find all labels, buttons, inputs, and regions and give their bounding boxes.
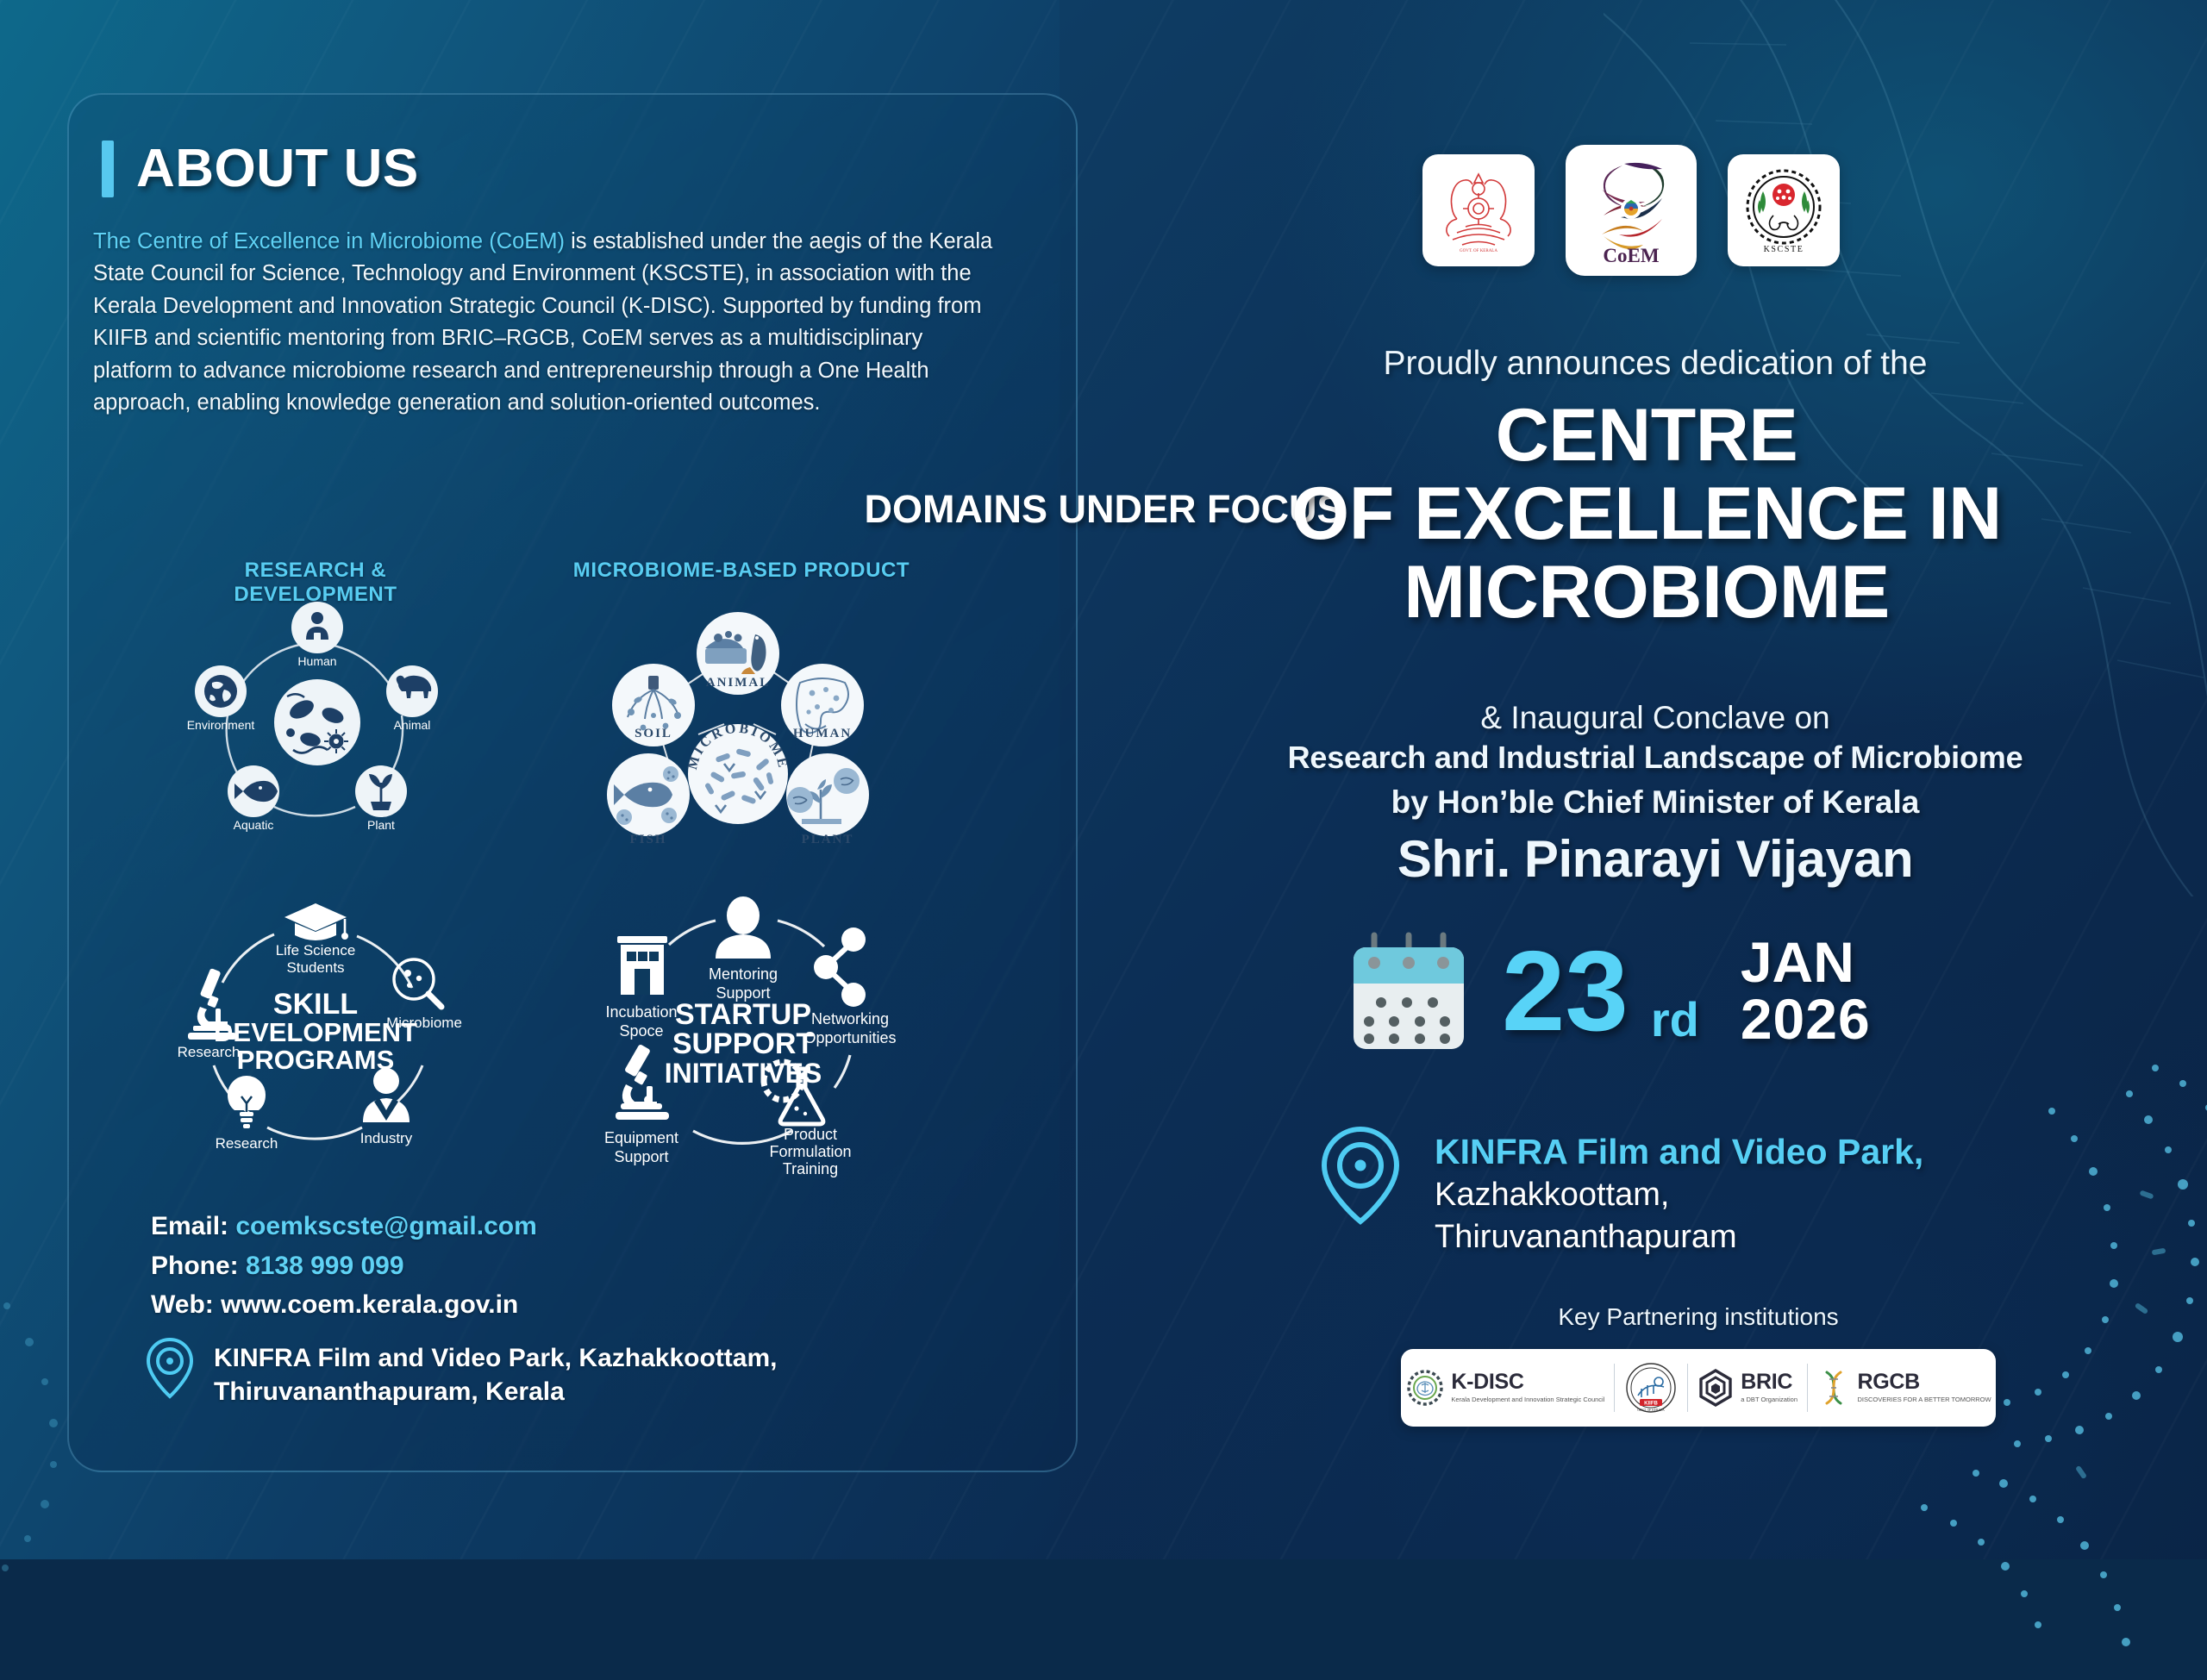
person-icon — [716, 896, 771, 959]
svg-text:GOVT. OF KERALA: GOVT. OF KERALA — [1460, 249, 1497, 253]
node-aquatic: Aquatic — [228, 765, 279, 832]
kdisc-gear-icon — [1405, 1367, 1445, 1408]
lightbulb-icon — [228, 1076, 266, 1128]
svg-text:Equipment: Equipment — [604, 1129, 678, 1146]
svg-text:Support: Support — [716, 984, 770, 1002]
main-title: CENTRE OF EXCELLENCE IN MICROBIOME — [1103, 397, 2190, 632]
partner-kdisc: K-DISC Kerala Development and Innovation… — [1405, 1367, 1604, 1408]
location-pin-icon — [1319, 1125, 1402, 1227]
partner-separator-3 — [1807, 1364, 1808, 1412]
svg-text:Research: Research — [216, 1135, 278, 1152]
left-address-block: KINFRA Film and Video Park, Kazhakkootta… — [145, 1336, 777, 1408]
venue-text: KINFRA Film and Video Park, Kazhakkootta… — [1435, 1125, 1923, 1258]
magnifier-microbe-icon — [394, 959, 441, 1007]
partner-kiifb: KIIFB GOVT. OF KERALA — [1624, 1361, 1678, 1415]
partner-bric-sub: a DBT Organization — [1741, 1396, 1797, 1403]
partner-kdisc-sub: Kerala Development and Innovation Strate… — [1451, 1396, 1604, 1403]
chief-minister-name: Shri. Pinarayi Vijayan — [1147, 827, 2164, 891]
svg-text:Life Science: Life Science — [276, 942, 356, 959]
svg-text:ANIMAL: ANIMAL — [706, 676, 771, 690]
skill-development-programs-diagram: SKILL DEVELOPMENT PROGRAMS Life Science … — [164, 896, 474, 1164]
svg-text:Environment: Environment — [187, 718, 255, 732]
node-soil: SOIL — [612, 664, 695, 746]
web-value[interactable]: www.coem.kerala.gov.in — [221, 1290, 518, 1319]
bric-hex-icon — [1697, 1368, 1735, 1408]
calendar-icon — [1345, 927, 1472, 1056]
event-month-year: JAN 2026 — [1741, 934, 1871, 1048]
microscope-icon — [616, 1044, 669, 1120]
svg-text:STARTUP: STARTUP — [675, 998, 811, 1031]
svg-text:GOVT. OF KERALA: GOVT. OF KERALA — [1637, 1408, 1665, 1412]
svg-text:Support: Support — [614, 1148, 668, 1165]
left-address-line1: KINFRA Film and Video Park, Kazhakkootta… — [214, 1341, 777, 1375]
kiifb-seal-icon: KIIFB GOVT. OF KERALA — [1624, 1361, 1678, 1415]
main-title-line1: CENTRE — [1103, 397, 2190, 475]
heading-accent-bar — [102, 141, 114, 197]
svg-text:Mentoring: Mentoring — [709, 965, 778, 983]
conclave-line1: & Inaugural Conclave on — [1147, 698, 2164, 738]
research-development-diagram: Human Animal Plant Aquatic — [164, 595, 474, 879]
svg-text:Plant: Plant — [367, 818, 395, 832]
left-address-text: KINFRA Film and Video Park, Kazhakkootta… — [214, 1336, 777, 1408]
svg-text:Animal: Animal — [394, 718, 431, 732]
startup-support-initiatives-diagram: STARTUP SUPPORT INITIATIVES Mentoring Su… — [595, 896, 905, 1172]
announce-line: Proudly announces dedication of the — [1147, 345, 2164, 383]
event-day: 23 — [1502, 934, 1629, 1048]
svg-text:PLANT: PLANT — [802, 833, 854, 846]
node-plant: Plant — [355, 765, 407, 832]
partner-kdisc-name: K-DISC — [1451, 1371, 1604, 1393]
partner-logos-header: GOVT. OF KERALA — [1422, 145, 1840, 276]
svg-text:SUPPORT: SUPPORT — [672, 1027, 815, 1060]
government-of-kerala-emblem: GOVT. OF KERALA — [1422, 154, 1535, 266]
conclave-line2: Research and Industrial Landscape of Mic… — [1147, 738, 2164, 778]
svg-text:Microbiome: Microbiome — [386, 1015, 462, 1031]
contact-block: Email: coemkscste@gmail.com Phone: 8138 … — [151, 1207, 537, 1325]
coem-logo: CoEM — [1566, 145, 1697, 276]
microbiome-based-product-diagram: SOIL ANIMAL HUMAN — [595, 603, 879, 862]
about-highlight-text: The Centre of Excellence in Microbiome (… — [93, 229, 565, 253]
location-pin-icon — [145, 1336, 195, 1400]
phone-value[interactable]: 8138 999 099 — [246, 1252, 404, 1280]
conclave-block: & Inaugural Conclave on Research and Ind… — [1147, 698, 2164, 891]
event-year: 2026 — [1741, 990, 1871, 1048]
building-icon — [617, 936, 667, 995]
svg-text:HUMAN: HUMAN — [793, 727, 852, 740]
partner-bric: BRIC a DBT Organization — [1697, 1368, 1797, 1408]
svg-text:Product: Product — [784, 1126, 837, 1143]
venue-block: KINFRA Film and Video Park, Kazhakkootta… — [1319, 1125, 1923, 1258]
partner-rgcb-name: RGCB — [1857, 1371, 1991, 1393]
node-microbiome-centre: MICROBIOME — [685, 721, 791, 824]
web-label: Web: — [151, 1290, 214, 1319]
left-address-line2: Thiruvananthapuram, Kerala — [214, 1375, 777, 1408]
event-date-block: 23 rd JAN 2026 — [1345, 927, 1871, 1056]
node-environment: Environment — [187, 665, 255, 732]
venue-line2: Kazhakkoottam, — [1435, 1174, 1923, 1216]
svg-text:Formulation: Formulation — [769, 1143, 851, 1160]
kscste-logo: KSCSTE — [1728, 154, 1840, 266]
partner-rgcb-sub: DISCOVERIES FOR A BETTER TOMORROW — [1857, 1396, 1991, 1403]
svg-text:Aquatic: Aquatic — [234, 818, 274, 832]
contact-web-row: Web: www.coem.kerala.gov.in — [151, 1285, 537, 1325]
svg-text:Incubation: Incubation — [605, 1003, 677, 1021]
svg-text:KIIFB: KIIFB — [1644, 1402, 1658, 1407]
svg-text:SOIL: SOIL — [635, 727, 672, 740]
svg-text:Training: Training — [783, 1160, 838, 1177]
node-fish: FISH — [607, 753, 690, 846]
svg-text:Industry: Industry — [360, 1130, 413, 1146]
partner-separator-2 — [1687, 1364, 1688, 1412]
partner-bric-name: BRIC — [1741, 1371, 1797, 1393]
partner-logos-bar: K-DISC Kerala Development and Innovation… — [1401, 1349, 1996, 1427]
partner-separator-1 — [1614, 1364, 1615, 1412]
svg-text:PROGRAMS: PROGRAMS — [237, 1045, 395, 1075]
graduation-cap-icon — [284, 903, 348, 940]
partner-rgcb: RGCB DISCOVERIES FOR A BETTER TOMORROW — [1816, 1367, 1991, 1408]
svg-text:Research: Research — [178, 1044, 241, 1060]
main-title-line2: OF EXCELLENCE IN — [1103, 475, 2190, 553]
microscope-icon — [188, 968, 236, 1040]
about-heading: ABOUT US — [102, 138, 419, 199]
about-body-text: is established under the aegis of the Ke… — [93, 229, 992, 415]
column-heading-microbiome-based-product: MICROBIOME-BASED PRODUCT — [569, 559, 914, 583]
contact-phone-row: Phone: 8138 999 099 — [151, 1246, 537, 1286]
svg-text:Spoce: Spoce — [619, 1022, 663, 1040]
email-value[interactable]: coemkscste@gmail.com — [235, 1212, 536, 1240]
email-label: Email: — [151, 1212, 228, 1240]
svg-text:KSCSTE: KSCSTE — [1764, 245, 1804, 254]
rgcb-helix-icon — [1816, 1367, 1851, 1408]
svg-text:SKILL: SKILL — [273, 988, 358, 1021]
contact-email-row: Email: coemkscste@gmail.com — [151, 1207, 537, 1246]
node-human: HUMAN — [781, 664, 864, 746]
main-title-line3: MICROBIOME — [1103, 553, 2190, 632]
svg-text:Networking: Networking — [811, 1010, 889, 1027]
svg-text:FISH: FISH — [629, 833, 666, 846]
svg-text:Human: Human — [297, 654, 336, 668]
network-share-icon — [814, 927, 866, 1007]
node-plant: PLANT — [786, 753, 869, 846]
node-animal: ANIMAL — [697, 612, 779, 695]
conclave-line3: by Hon’ble Chief Minister of Kerala — [1147, 778, 2164, 827]
partners-label: Key Partnering institutions — [1379, 1303, 2017, 1331]
phone-label: Phone: — [151, 1252, 239, 1280]
svg-text:Opportunities: Opportunities — [803, 1029, 896, 1046]
about-paragraph: The Centre of Excellence in Microbiome (… — [93, 226, 998, 420]
svg-text:Students: Students — [286, 959, 344, 976]
svg-text:CoEM: CoEM — [1603, 245, 1659, 266]
event-month: JAN — [1741, 934, 1871, 990]
node-animal: Animal — [386, 665, 438, 732]
about-title: ABOUT US — [136, 138, 419, 199]
venue-line1: KINFRA Film and Video Park, — [1435, 1130, 1923, 1174]
node-human: Human — [291, 602, 343, 668]
event-day-ordinal: rd — [1651, 996, 1699, 1044]
venue-line3: Thiruvananthapuram — [1435, 1216, 1923, 1258]
